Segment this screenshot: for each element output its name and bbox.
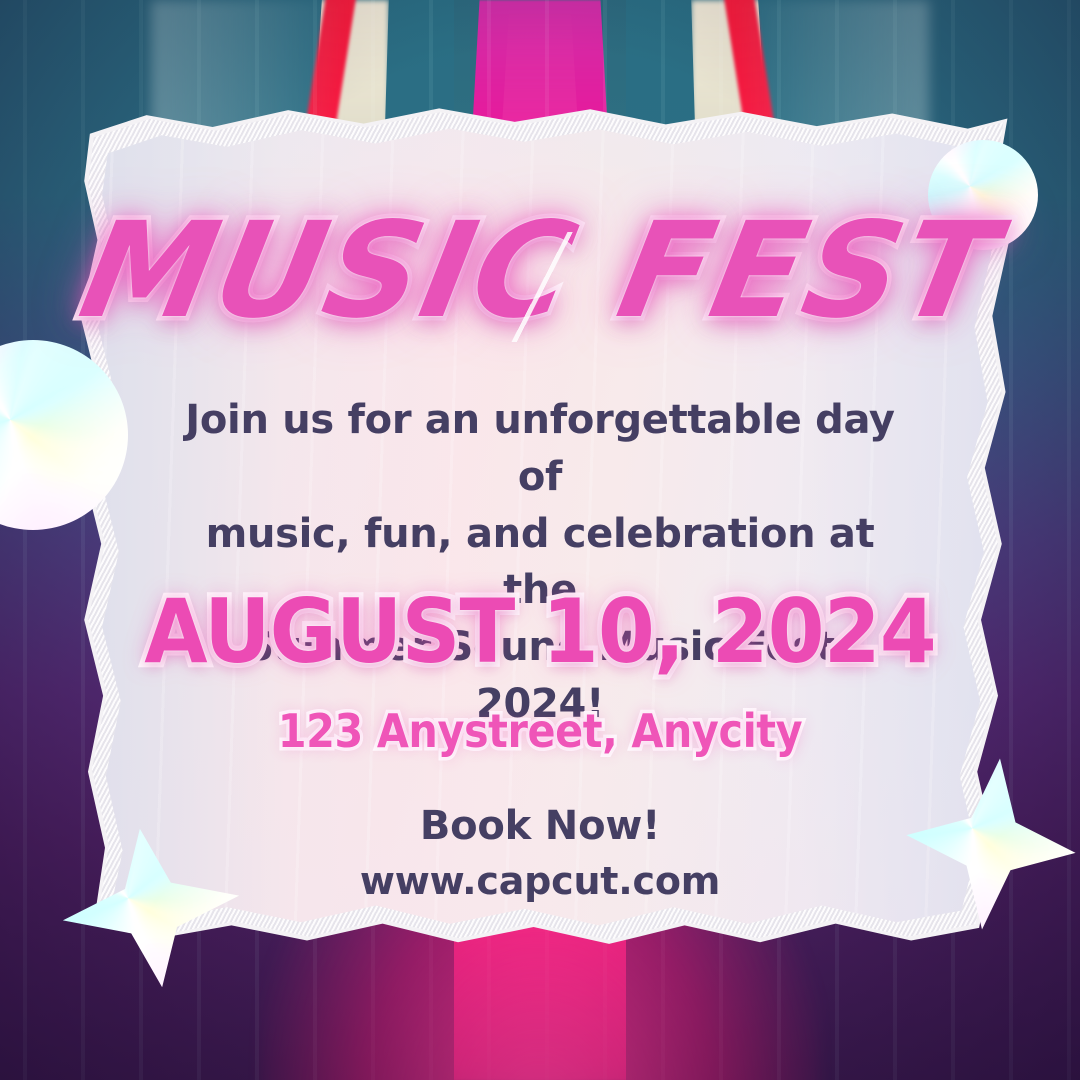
website-url[interactable]: www.capcut.com <box>0 862 1080 900</box>
cta-label[interactable]: Book Now! <box>0 806 1080 846</box>
poster-content: MUSIC FEST Join us for an unforgettable … <box>0 0 1080 1080</box>
subtitle-line-1: Join us for an unforgettable day of <box>180 392 900 506</box>
poster-canvas: MUSIC FEST Join us for an unforgettable … <box>0 0 1080 1080</box>
event-address: 123 Anystreet, Anycity <box>54 708 1026 754</box>
page-title: MUSIC FEST <box>0 205 1080 337</box>
event-date: AUGUST 10, 2024 <box>38 588 1042 676</box>
